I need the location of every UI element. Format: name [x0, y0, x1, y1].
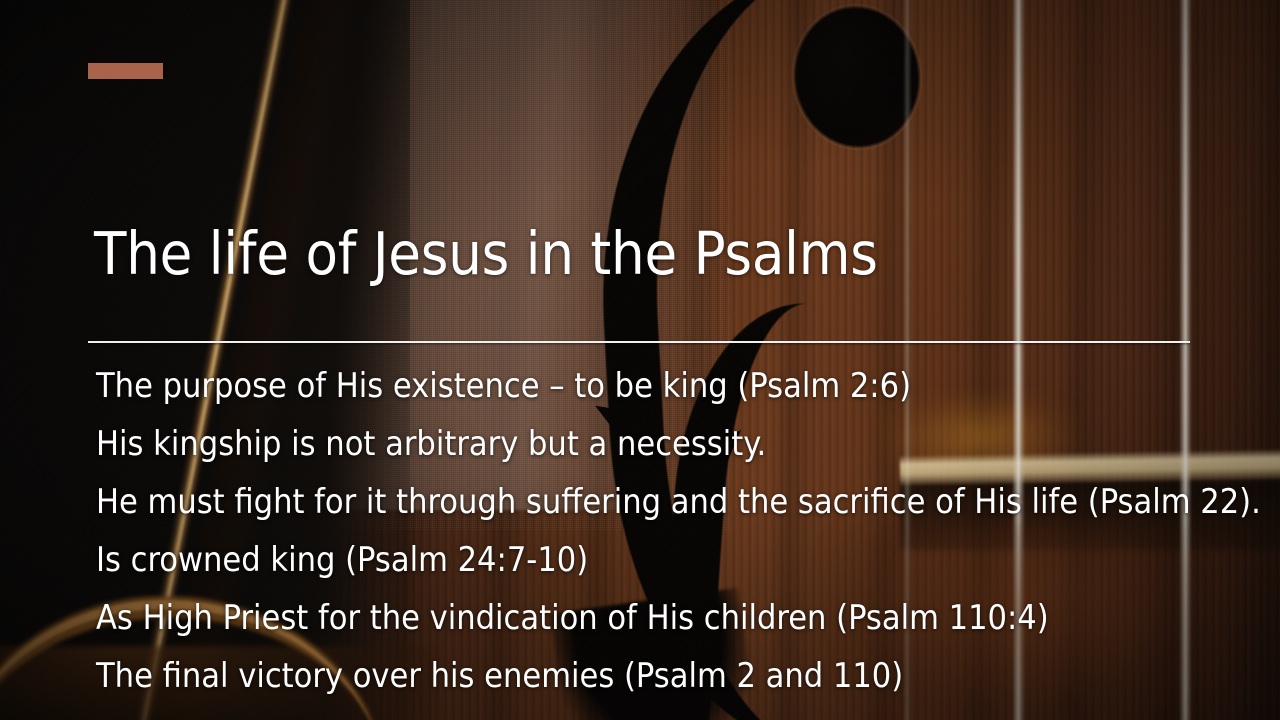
body-line: The final victory over his enemies (Psal… — [96, 647, 1256, 705]
accent-bar — [88, 63, 163, 79]
slide-content: The life of Jesus in the Psalms The purp… — [0, 0, 1280, 720]
body-line: As High Priest for the vindication of Hi… — [96, 589, 1256, 647]
presentation-slide: The life of Jesus in the Psalms The purp… — [0, 0, 1280, 720]
body-line: The purpose of His existence – to be kin… — [96, 357, 1256, 415]
slide-title: The life of Jesus in the Psalms — [94, 222, 1194, 286]
title-divider-rule — [88, 341, 1190, 343]
body-line: His kingship is not arbitrary but a nece… — [96, 415, 1256, 473]
body-line: Is crowned king (Psalm 24:7-10) — [96, 531, 1256, 589]
slide-body-list: The purpose of His existence – to be kin… — [96, 357, 1256, 705]
body-line: He must fight for it through suffering a… — [96, 473, 1256, 531]
